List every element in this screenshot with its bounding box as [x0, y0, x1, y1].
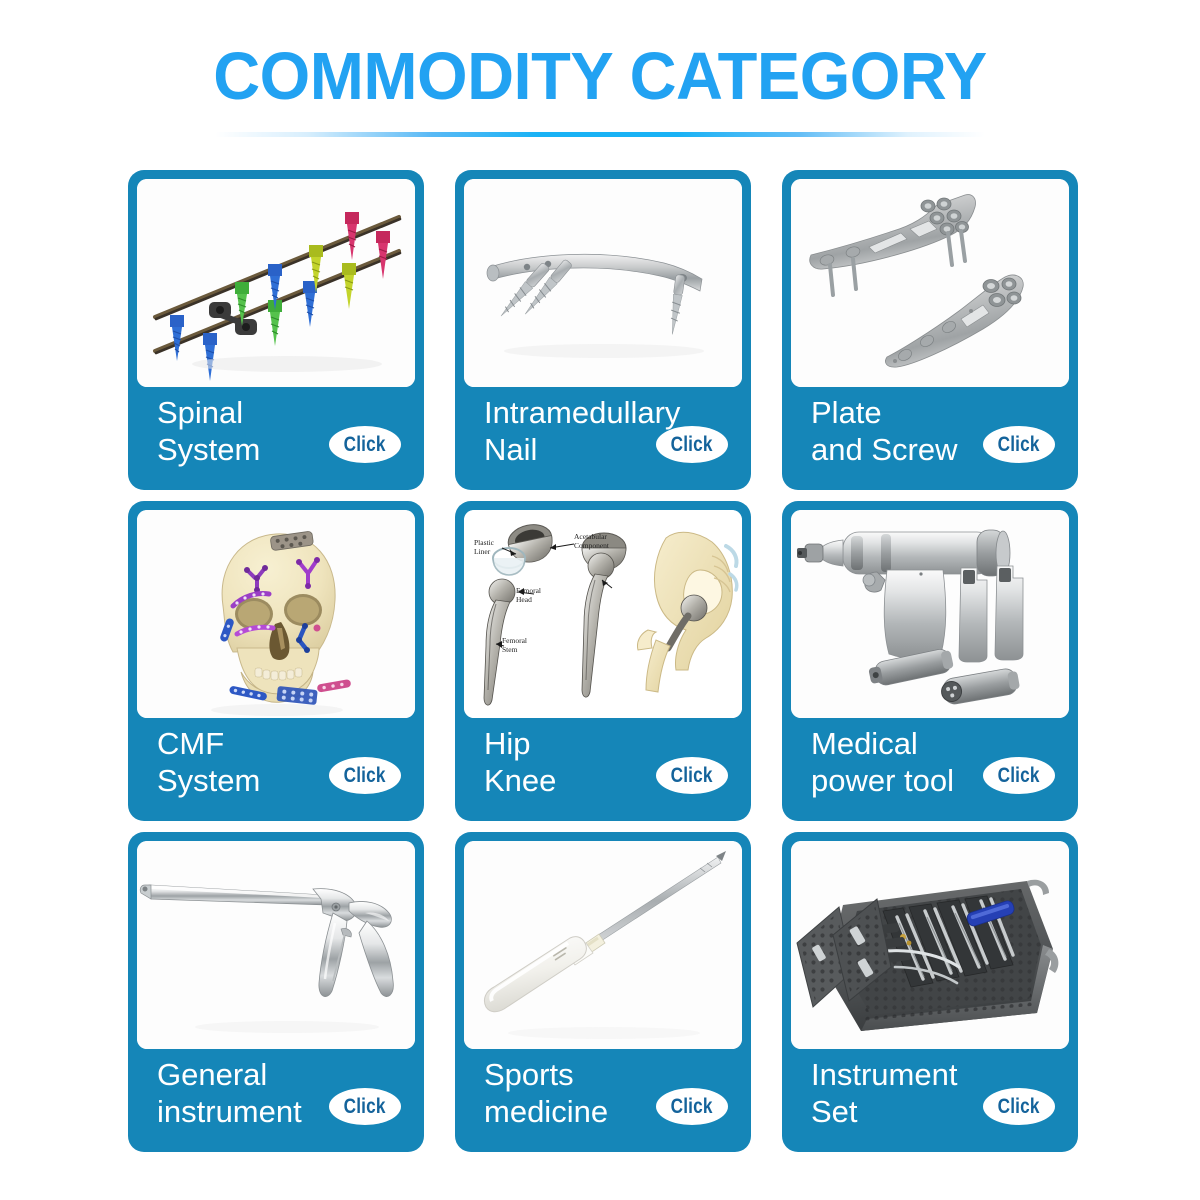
category-grid: Spinal System Click [128, 170, 1078, 1152]
click-button-medical-power-tool[interactable]: Click [983, 757, 1055, 794]
card-image-instrument-set [791, 841, 1069, 1049]
click-button-instrument-set[interactable]: Click [983, 1088, 1055, 1125]
card-image-plate-and-screw [791, 179, 1069, 387]
category-card-general-instrument[interactable]: General instrument Click [128, 832, 424, 1152]
click-button-intramedullary-nail[interactable]: Click [656, 426, 728, 463]
title-divider [215, 132, 985, 137]
category-card-sports-medicine[interactable]: Sports medicine Click [455, 832, 751, 1152]
medical-power-tool-photo [791, 510, 1069, 718]
card-footer-general-instrument: General instrument Click [137, 1049, 415, 1143]
card-image-medical-power-tool [791, 510, 1069, 718]
general-instrument-photo [137, 841, 415, 1049]
commodity-category-page: COMMODITY CATEGORY [0, 0, 1200, 1200]
cmf-system-photo [137, 510, 415, 718]
annotation-acetabular-component: Acetabular Component [574, 532, 609, 550]
card-footer-hip-knee: Hip Knee Click [464, 718, 742, 812]
click-button-label: Click [671, 1095, 713, 1119]
click-button-label: Click [344, 1095, 386, 1119]
plate-and-screw-photo [791, 179, 1069, 387]
click-button-label: Click [344, 433, 386, 457]
page-title: COMMODITY CATEGORY [18, 38, 1182, 115]
page-header: COMMODITY CATEGORY [0, 0, 1200, 160]
click-button-cmf-system[interactable]: Click [329, 757, 401, 794]
click-button-label: Click [998, 1095, 1040, 1119]
card-footer-instrument-set: Instrument Set Click [791, 1049, 1069, 1143]
category-card-medical-power-tool[interactable]: Medical power tool Click [782, 501, 1078, 821]
click-button-general-instrument[interactable]: Click [329, 1088, 401, 1125]
click-button-sports-medicine[interactable]: Click [656, 1088, 728, 1125]
card-image-cmf-system [137, 510, 415, 718]
click-button-plate-and-screw[interactable]: Click [983, 426, 1055, 463]
category-card-spinal-system[interactable]: Spinal System Click [128, 170, 424, 490]
spinal-system-photo [137, 179, 415, 387]
category-card-cmf-system[interactable]: CMF System Click [128, 501, 424, 821]
card-footer-sports-medicine: Sports medicine Click [464, 1049, 742, 1143]
instrument-set-photo [791, 841, 1069, 1049]
click-button-label: Click [344, 764, 386, 788]
click-button-hip-knee[interactable]: Click [656, 757, 728, 794]
card-footer-plate-and-screw: Plate and Screw Click [791, 387, 1069, 481]
sports-medicine-photo [464, 841, 742, 1049]
intramedullary-nail-photo [464, 179, 742, 387]
card-footer-cmf-system: CMF System Click [137, 718, 415, 812]
card-footer-intramedullary-nail: Intramedullary Nail Click [464, 387, 742, 481]
category-card-hip-knee[interactable]: Plastic Liner Acetabular Component Femor… [455, 501, 751, 821]
annotation-plastic-liner: Plastic Liner [474, 538, 494, 556]
click-button-label: Click [671, 764, 713, 788]
category-card-intramedullary-nail[interactable]: Intramedullary Nail Click [455, 170, 751, 490]
card-image-sports-medicine [464, 841, 742, 1049]
card-image-hip-knee: Plastic Liner Acetabular Component Femor… [464, 510, 742, 718]
card-image-spinal-system [137, 179, 415, 387]
click-button-label: Click [998, 433, 1040, 457]
annotation-femoral-head: Femoral Head [516, 586, 541, 604]
card-footer-medical-power-tool: Medical power tool Click [791, 718, 1069, 812]
category-card-plate-and-screw[interactable]: Plate and Screw Click [782, 170, 1078, 490]
click-button-label: Click [998, 764, 1040, 788]
card-image-intramedullary-nail [464, 179, 742, 387]
annotation-femoral-stem: Femoral Stem [502, 636, 527, 654]
card-footer-spinal-system: Spinal System Click [137, 387, 415, 481]
click-button-label: Click [671, 433, 713, 457]
card-image-general-instrument [137, 841, 415, 1049]
category-card-instrument-set[interactable]: Instrument Set Click [782, 832, 1078, 1152]
click-button-spinal-system[interactable]: Click [329, 426, 401, 463]
